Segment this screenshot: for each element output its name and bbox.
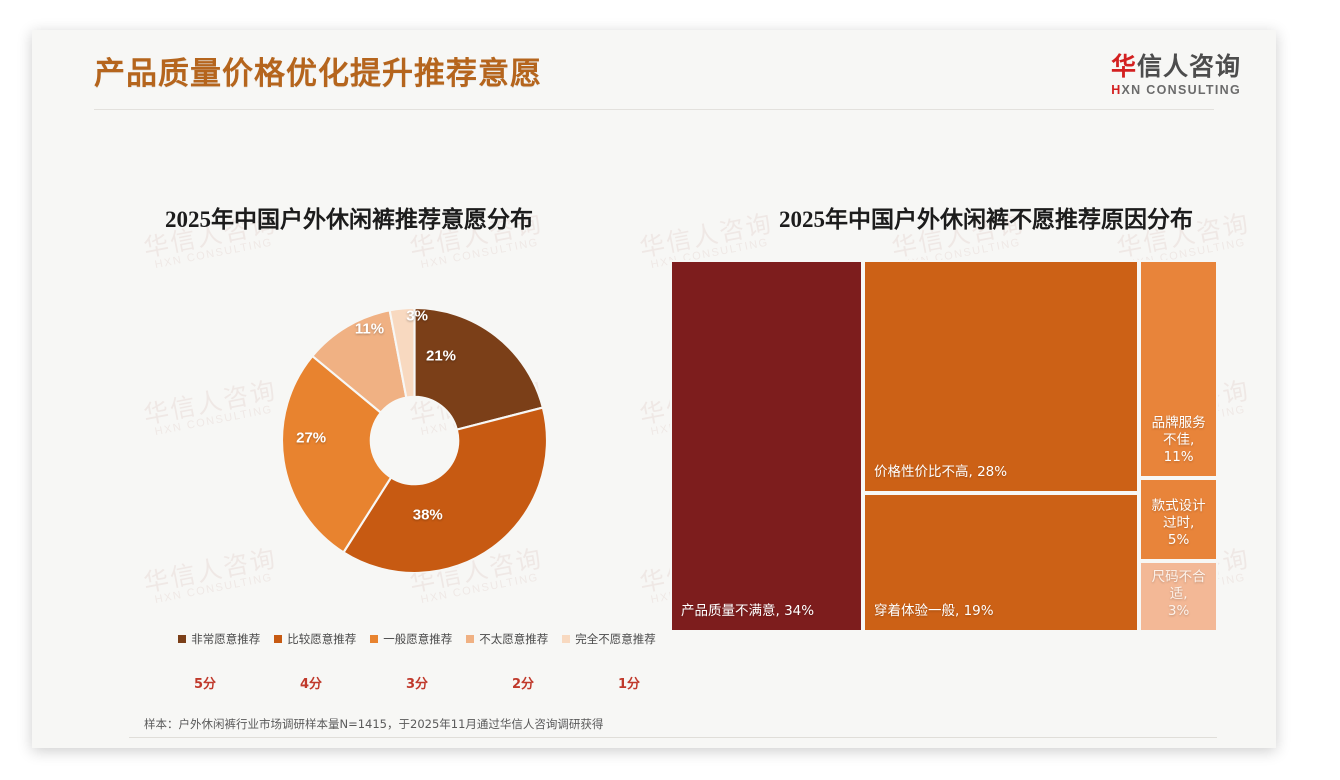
recommendation-donut-chart: 21%38%27%11%3% xyxy=(282,308,547,573)
legend-item[interactable]: 不太愿意推荐 xyxy=(466,631,548,647)
legend-item[interactable]: 完全不愿意推荐 xyxy=(562,631,656,647)
legend-swatch-icon xyxy=(562,635,570,643)
watermark-cn: 华信人咨询 xyxy=(142,545,280,597)
logo-english: HXN CONSULTING xyxy=(1111,84,1241,97)
sample-footnote: 样本：户外休闲裤行业市场调研样本量N=1415，于2025年11月通过华信人咨询… xyxy=(144,716,603,732)
logo-chinese: 华信人咨询 xyxy=(1111,54,1241,79)
logo-chars-rest: 信人咨询 xyxy=(1137,52,1241,81)
treemap-tile-label: 品牌服务不佳,11% xyxy=(1145,415,1212,466)
donut-legend: 非常愿意推荐比较愿意推荐一般愿意推荐不太愿意推荐完全不愿意推荐 xyxy=(142,631,692,647)
treemap-tile-label: 穿着体验一般, 19% xyxy=(874,603,1131,620)
treemap-tile-label: 尺码不合适,3% xyxy=(1145,569,1212,620)
legend-label: 一般愿意推荐 xyxy=(383,631,452,647)
watermark-cn: 华信人咨询 xyxy=(638,210,776,262)
legend-swatch-icon xyxy=(178,635,186,643)
donut-slice-label: 11% xyxy=(355,321,384,338)
left-chart-title: 2025年中国户外休闲裤推荐意愿分布 xyxy=(165,200,533,234)
watermark-en: HXN CONSULTING xyxy=(413,236,548,273)
score-label: 2分 xyxy=(470,673,576,692)
treemap-tile-价格性价比不高[interactable]: 价格性价比不高, 28% xyxy=(863,260,1139,493)
treemap-tile-款式设计过时[interactable]: 款式设计过时,5% xyxy=(1139,478,1218,561)
legend-label: 不太愿意推荐 xyxy=(479,631,548,647)
donut-slice-非常愿意推荐 xyxy=(415,308,543,430)
donut-slice-label: 38% xyxy=(413,506,443,523)
treemap-tile-穿着体验一般[interactable]: 穿着体验一般, 19% xyxy=(863,493,1139,633)
slide-card: 华信人咨询HXN CONSULTING华信人咨询HXN CONSULTING华信… xyxy=(32,30,1276,748)
watermark-cn: 华信人咨询 xyxy=(142,377,280,429)
treemap-tile-label: 价格性价比不高, 28% xyxy=(874,464,1131,481)
watermark: 华信人咨询HXN CONSULTING xyxy=(142,377,282,440)
slide-footer: ©2026.1 HXR华信人咨询 www.hxrcon.com xyxy=(32,738,1276,748)
legend-item[interactable]: 比较愿意推荐 xyxy=(274,631,356,647)
donut-slice-label: 21% xyxy=(426,347,456,364)
logo-en-rest: XN CONSULTING xyxy=(1122,83,1241,97)
donut-slice-label: 27% xyxy=(296,429,326,446)
treemap-tile-品牌服务不佳[interactable]: 品牌服务不佳,11% xyxy=(1139,260,1218,478)
score-scale-row: 5分4分3分2分1分 xyxy=(152,673,682,692)
reasons-treemap-chart: 产品质量不满意, 34%价格性价比不高, 28%穿着体验一般, 19%品牌服务不… xyxy=(670,260,1218,632)
score-label: 4分 xyxy=(258,673,364,692)
slide-header: 产品质量价格优化提升推荐意愿 华信人咨询 HXN CONSULTING xyxy=(32,30,1276,112)
logo-char-hua: 华 xyxy=(1111,52,1137,81)
watermark-en: HXN CONSULTING xyxy=(147,403,282,440)
legend-swatch-icon xyxy=(466,635,474,643)
company-logo: 华信人咨询 HXN CONSULTING xyxy=(1111,54,1241,97)
treemap-tile-label: 款式设计过时,5% xyxy=(1145,498,1212,549)
header-divider xyxy=(94,109,1214,110)
treemap-tile-产品质量不满意[interactable]: 产品质量不满意, 34% xyxy=(670,260,863,632)
score-label: 3分 xyxy=(364,673,470,692)
watermark-en: HXN CONSULTING xyxy=(147,571,282,608)
watermark-en: HXN CONSULTING xyxy=(147,236,282,273)
legend-swatch-icon xyxy=(274,635,282,643)
legend-label: 非常愿意推荐 xyxy=(191,631,260,647)
legend-label: 比较愿意推荐 xyxy=(287,631,356,647)
donut-slice-label: 3% xyxy=(406,307,428,324)
watermark: 华信人咨询HXN CONSULTING xyxy=(142,545,282,608)
score-label: 1分 xyxy=(576,673,682,692)
score-label: 5分 xyxy=(152,673,258,692)
legend-item[interactable]: 一般愿意推荐 xyxy=(370,631,452,647)
watermark-en: HXN CONSULTING xyxy=(413,571,548,608)
page-title: 产品质量价格优化提升推荐意愿 xyxy=(94,48,542,93)
legend-swatch-icon xyxy=(370,635,378,643)
treemap-tile-尺码不合适[interactable]: 尺码不合适,3% xyxy=(1139,561,1218,632)
legend-item[interactable]: 非常愿意推荐 xyxy=(178,631,260,647)
right-chart-title: 2025年中国户外休闲裤不愿推荐原因分布 xyxy=(779,200,1193,234)
logo-en-h: H xyxy=(1111,83,1121,97)
treemap-tile-label: 产品质量不满意, 34% xyxy=(681,603,855,620)
legend-label: 完全不愿意推荐 xyxy=(575,631,656,647)
